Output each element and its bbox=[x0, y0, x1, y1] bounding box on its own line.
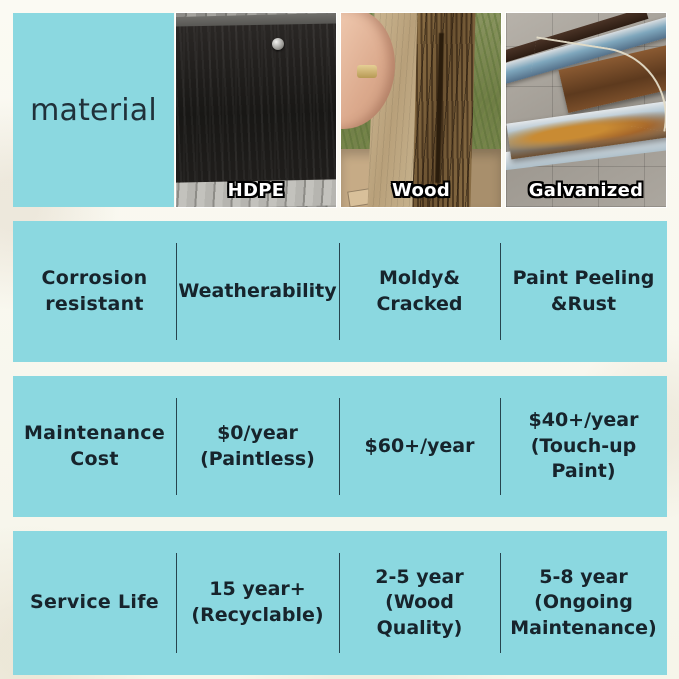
table-row: MaintenanceCost $0/year(Paintless) $60+/… bbox=[13, 376, 667, 517]
hdpe-scene bbox=[176, 13, 336, 207]
page-title: material bbox=[30, 93, 157, 128]
table-row: Service Life 15 year+(Recyclable) 2-5 ye… bbox=[13, 531, 667, 675]
cell-text: Moldy&Cracked bbox=[376, 266, 462, 317]
photo-wood: Wood bbox=[341, 13, 501, 207]
cell-hdpe: 15 year+(Recyclable) bbox=[176, 531, 339, 675]
row-label-cell: Corrosionresistant bbox=[13, 221, 176, 362]
column-divider bbox=[339, 398, 340, 495]
photo-hdpe: HDPE bbox=[176, 13, 336, 207]
cell-text: Weatherability bbox=[178, 279, 336, 305]
column-divider bbox=[500, 243, 501, 340]
cell-galvanized: 5-8 year(OngoingMaintenance) bbox=[500, 531, 667, 675]
cell-text: 2-5 year(Wood Quality) bbox=[345, 565, 494, 642]
cell-text: 15 year+(Recyclable) bbox=[191, 577, 323, 628]
cell-wood: Moldy&Cracked bbox=[339, 221, 500, 362]
row-label-cell: Service Life bbox=[13, 531, 176, 675]
header-title-cell: material bbox=[13, 13, 174, 207]
screw-icon bbox=[272, 38, 284, 50]
photo-label-galvanized: Galvanized bbox=[506, 180, 666, 201]
column-divider bbox=[500, 553, 501, 653]
material-comparison-table: material HDPE Wood bbox=[13, 13, 667, 675]
table-row: Corrosionresistant Weatherability Moldy&… bbox=[13, 221, 667, 362]
column-divider bbox=[176, 398, 177, 495]
cell-text: Service Life bbox=[30, 590, 159, 616]
wood-scene bbox=[341, 13, 501, 207]
hdpe-board bbox=[176, 23, 336, 186]
ring bbox=[357, 65, 377, 78]
column-divider bbox=[176, 243, 177, 340]
cell-wood: $60+/year bbox=[339, 376, 500, 517]
column-divider bbox=[339, 243, 340, 340]
row-label-cell: MaintenanceCost bbox=[13, 376, 176, 517]
cell-wood: 2-5 year(Wood Quality) bbox=[339, 531, 500, 675]
cell-hdpe: Weatherability bbox=[176, 221, 339, 362]
table-header-row: material HDPE Wood bbox=[13, 13, 667, 207]
cell-text: Paint Peeling&Rust bbox=[513, 266, 655, 317]
photo-galvanized: Galvanized bbox=[506, 13, 666, 207]
column-divider bbox=[176, 553, 177, 653]
cell-text: $40+/year(Touch-up Paint) bbox=[506, 408, 661, 485]
galvanized-scene bbox=[506, 13, 666, 207]
photo-label-hdpe: HDPE bbox=[176, 180, 336, 201]
column-divider bbox=[500, 398, 501, 495]
cell-hdpe: $0/year(Paintless) bbox=[176, 376, 339, 517]
cell-galvanized: $40+/year(Touch-up Paint) bbox=[500, 376, 667, 517]
cell-text: Corrosionresistant bbox=[42, 266, 148, 317]
cell-galvanized: Paint Peeling&Rust bbox=[500, 221, 667, 362]
cell-text: 5-8 year(OngoingMaintenance) bbox=[510, 565, 656, 642]
column-divider bbox=[339, 553, 340, 653]
cell-text: $60+/year bbox=[365, 434, 475, 460]
cell-text: MaintenanceCost bbox=[24, 421, 165, 472]
photo-label-wood: Wood bbox=[341, 180, 501, 201]
rotted-wood-post bbox=[412, 13, 476, 207]
cell-text: $0/year(Paintless) bbox=[200, 421, 315, 472]
